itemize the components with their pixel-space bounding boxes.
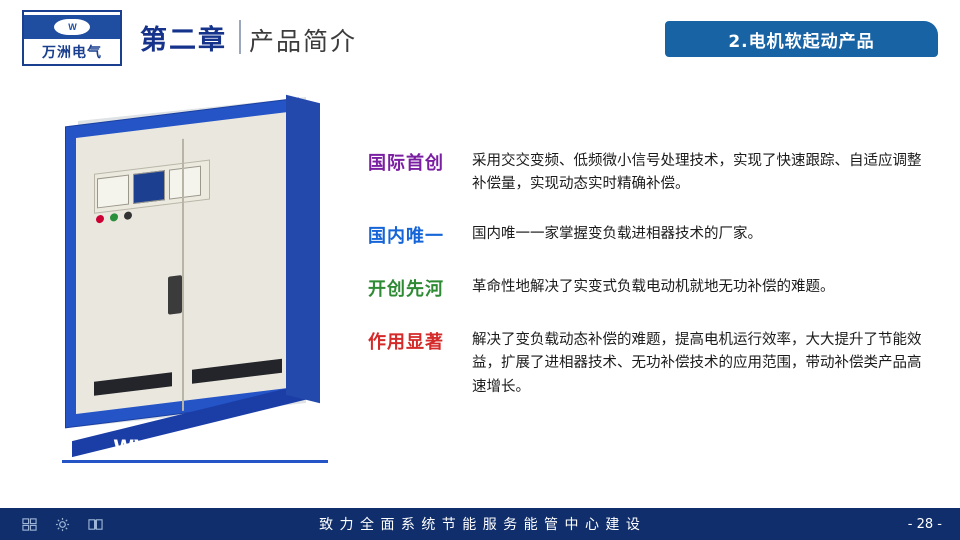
feature-label: 国际首创 [368,150,472,197]
footer-slogan: 致 力 全 面 系 统 节 能 服 务 能 管 中 心 建 设 [0,514,960,534]
footer-bar: 致 力 全 面 系 统 节 能 服 务 能 管 中 心 建 设 - 28 - [0,508,960,540]
feature-row: 作用显著 解决了变负载动态补偿的难题，提高电机运行效率，大大提升了节能效益，扩展… [368,329,928,399]
product-caption: WVP变负载进相器 [60,432,330,459]
logo-mark-icon: W [54,19,90,35]
logo-english-text: Worldwide [24,57,120,63]
chapter-title: 第二章 [140,18,227,57]
analog-meter-1 [97,175,129,209]
indicator-black-icon [124,211,132,220]
caption-underline [62,460,328,463]
vent-right [192,359,282,384]
control-buttons [96,211,132,223]
title-divider [239,20,241,54]
logo-emblem: W Worldwide [24,15,120,39]
feature-row: 国际首创 采用交交变频、低频微小信号处理技术，实现了快速跟踪、自适应调整补偿量，… [368,150,928,197]
section-tag-badge: 2.电机软起动产品 [665,21,938,57]
feature-label: 国内唯一 [368,223,472,250]
company-logo: W Worldwide 万洲电气 [22,10,122,66]
product-photo [58,95,338,430]
cabinet-door-panel [76,112,288,414]
feature-label: 作用显著 [368,329,472,399]
indicator-green-icon [110,213,118,222]
meter-panel [94,160,210,214]
feature-text: 解决了变负载动态补偿的难题，提高电机运行效率，大大提升了节能效益，扩展了进相器技… [472,329,928,399]
feature-text: 采用交交变频、低频微小信号处理技术，实现了快速跟踪、自适应调整补偿量，实现动态实… [472,150,928,197]
vent-left [94,372,172,396]
analog-meter-2 [169,166,201,200]
door-seam [182,139,184,411]
cabinet-side-face [286,95,320,403]
page-title: 产品简介 [249,22,357,58]
feature-list: 国际首创 采用交交变频、低频微小信号处理技术，实现了快速跟踪、自适应调整补偿量，… [368,150,928,425]
feature-row: 开创先河 革命性地解决了实变式负载电动机就地无功补偿的难题。 [368,276,928,303]
page-number: - 28 - [908,517,942,532]
cabinet-body [66,99,298,427]
feature-label: 开创先河 [368,276,472,303]
section-tag-label: 2.电机软起动产品 [728,27,874,52]
feature-text: 革命性地解决了实变式负载电动机就地无功补偿的难题。 [472,276,928,303]
logo-mark-letter: W [68,22,76,32]
door-handle [168,275,182,315]
indicator-red-icon [96,215,104,224]
feature-row: 国内唯一 国内唯一一家掌握变负载进相器技术的厂家。 [368,223,928,250]
digital-display [133,170,165,204]
feature-text: 国内唯一一家掌握变负载进相器技术的厂家。 [472,223,928,250]
